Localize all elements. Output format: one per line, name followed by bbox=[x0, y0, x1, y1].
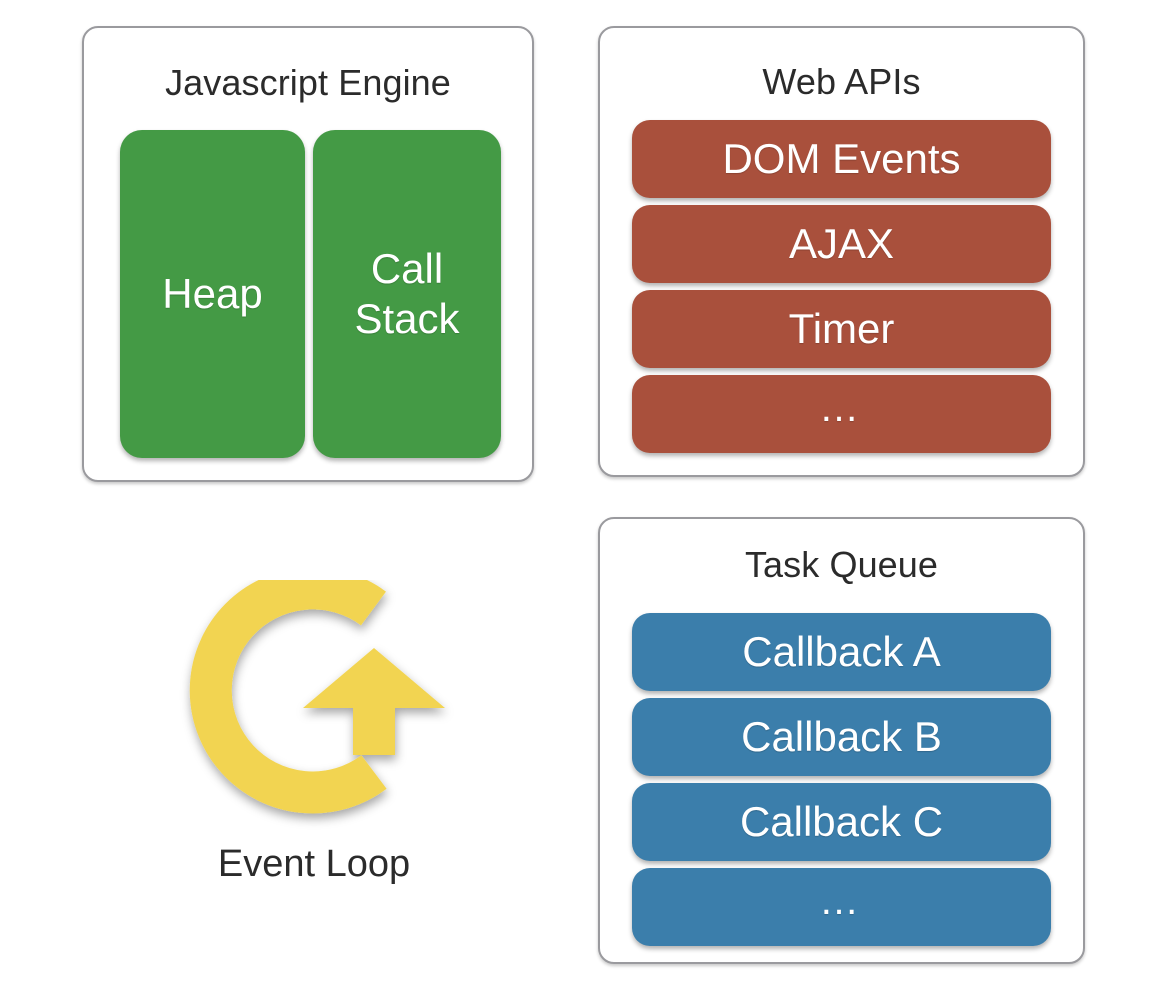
web-api-item-label: DOM Events bbox=[722, 135, 960, 183]
web-api-item: AJAX bbox=[632, 205, 1051, 283]
panel-title-task-queue: Task Queue bbox=[600, 544, 1083, 586]
web-api-item-more: … bbox=[632, 375, 1051, 453]
task-queue-item-label: Callback C bbox=[740, 798, 943, 846]
block-heap-label: Heap bbox=[162, 269, 262, 319]
task-queue-item-more: … bbox=[632, 868, 1051, 946]
task-queue-item-label: Callback B bbox=[741, 713, 942, 761]
event-loop-label: Event Loop bbox=[164, 842, 464, 886]
panel-web-apis: Web APIs DOM Events AJAX Timer … bbox=[598, 26, 1085, 477]
panel-task-queue: Task Queue Callback A Callback B Callbac… bbox=[598, 517, 1085, 964]
task-queue-item: Callback B bbox=[632, 698, 1051, 776]
web-api-item-label: AJAX bbox=[789, 220, 894, 268]
block-call-stack-label: Call Stack bbox=[354, 244, 459, 344]
web-api-item-label: Timer bbox=[789, 305, 895, 353]
web-api-item: Timer bbox=[632, 290, 1051, 368]
task-queue-item: Callback C bbox=[632, 783, 1051, 861]
event-loop-group: Event Loop bbox=[178, 580, 478, 920]
task-queue-item-label: Callback A bbox=[742, 628, 940, 676]
panel-title-web-apis: Web APIs bbox=[600, 61, 1083, 103]
panel-javascript-engine: Javascript Engine Heap Call Stack bbox=[82, 26, 534, 482]
task-queue-item-label: … bbox=[819, 877, 864, 925]
web-api-item-label: … bbox=[819, 384, 864, 432]
web-api-item: DOM Events bbox=[632, 120, 1051, 198]
panel-title-javascript-engine: Javascript Engine bbox=[84, 62, 532, 104]
circular-arrow-loop-icon bbox=[178, 580, 468, 838]
block-call-stack: Call Stack bbox=[313, 130, 501, 458]
block-heap: Heap bbox=[120, 130, 305, 458]
task-queue-item: Callback A bbox=[632, 613, 1051, 691]
diagram-canvas: Javascript Engine Heap Call Stack Web AP… bbox=[0, 0, 1172, 1004]
